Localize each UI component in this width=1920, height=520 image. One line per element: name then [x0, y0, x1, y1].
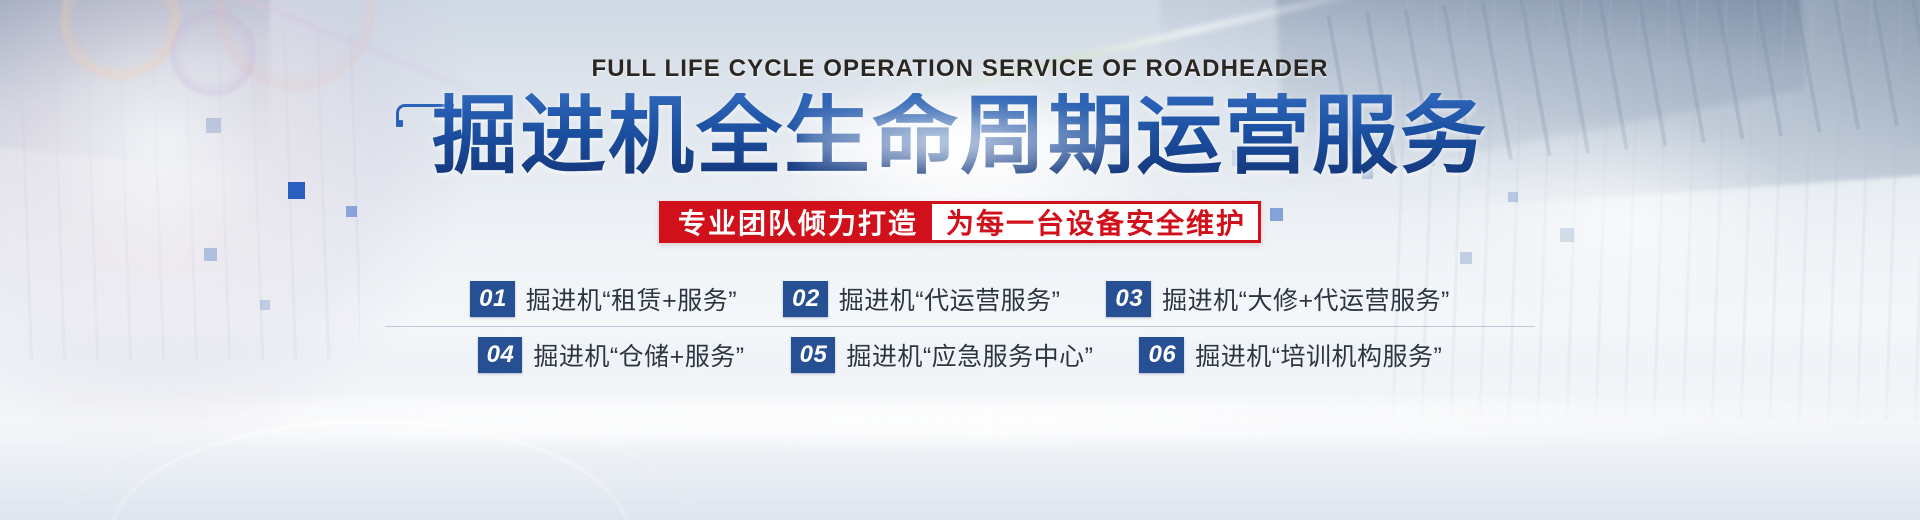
service-number-badge: 02: [783, 281, 828, 317]
service-item-05[interactable]: 05 掘进机“应急服务中心”: [791, 337, 1094, 373]
page-title: 掘进机全生命周期运营服务: [432, 93, 1488, 179]
service-number-badge: 03: [1106, 281, 1151, 317]
service-label: 掘进机“租赁+服务”: [526, 281, 737, 317]
service-label: 掘进机“应急服务中心”: [846, 337, 1093, 373]
slogan-secondary: 为每一台设备安全维护: [932, 204, 1258, 240]
service-row-bottom: 04 掘进机“仓储+服务” 05 掘进机“应急服务中心” 06 掘进机“培训机构…: [385, 327, 1535, 383]
service-item-04[interactable]: 04 掘进机“仓储+服务”: [478, 337, 745, 373]
service-label: 掘进机“大修+代运营服务”: [1162, 281, 1450, 317]
service-item-01[interactable]: 01 掘进机“租赁+服务”: [470, 281, 737, 317]
service-label: 掘进机“代运营服务”: [839, 281, 1061, 317]
banner-eyebrow-english: FULL LIFE CYCLE OPERATION SERVICE OF ROA…: [591, 55, 1328, 83]
service-label: 掘进机“仓储+服务”: [533, 337, 744, 373]
banner-content: FULL LIFE CYCLE OPERATION SERVICE OF ROA…: [0, 0, 1920, 520]
slogan-primary: 专业团队倾力打造: [662, 204, 932, 240]
service-item-02[interactable]: 02 掘进机“代运营服务”: [783, 281, 1060, 317]
service-item-06[interactable]: 06 掘进机“培训机构服务”: [1139, 337, 1442, 373]
slogan-banner: 专业团队倾力打造 为每一台设备安全维护: [659, 201, 1261, 243]
service-list: 01 掘进机“租赁+服务” 02 掘进机“代运营服务” 03 掘进机“大修+代运…: [385, 271, 1535, 383]
service-number-badge: 05: [791, 337, 836, 373]
service-row-top: 01 掘进机“租赁+服务” 02 掘进机“代运营服务” 03 掘进机“大修+代运…: [385, 271, 1535, 327]
service-item-03[interactable]: 03 掘进机“大修+代运营服务”: [1106, 281, 1449, 317]
service-number-badge: 04: [478, 337, 523, 373]
service-number-badge: 06: [1139, 337, 1184, 373]
banner-root: FULL LIFE CYCLE OPERATION SERVICE OF ROA…: [0, 0, 1920, 520]
service-number-badge: 01: [470, 281, 515, 317]
service-label: 掘进机“培训机构服务”: [1195, 337, 1442, 373]
